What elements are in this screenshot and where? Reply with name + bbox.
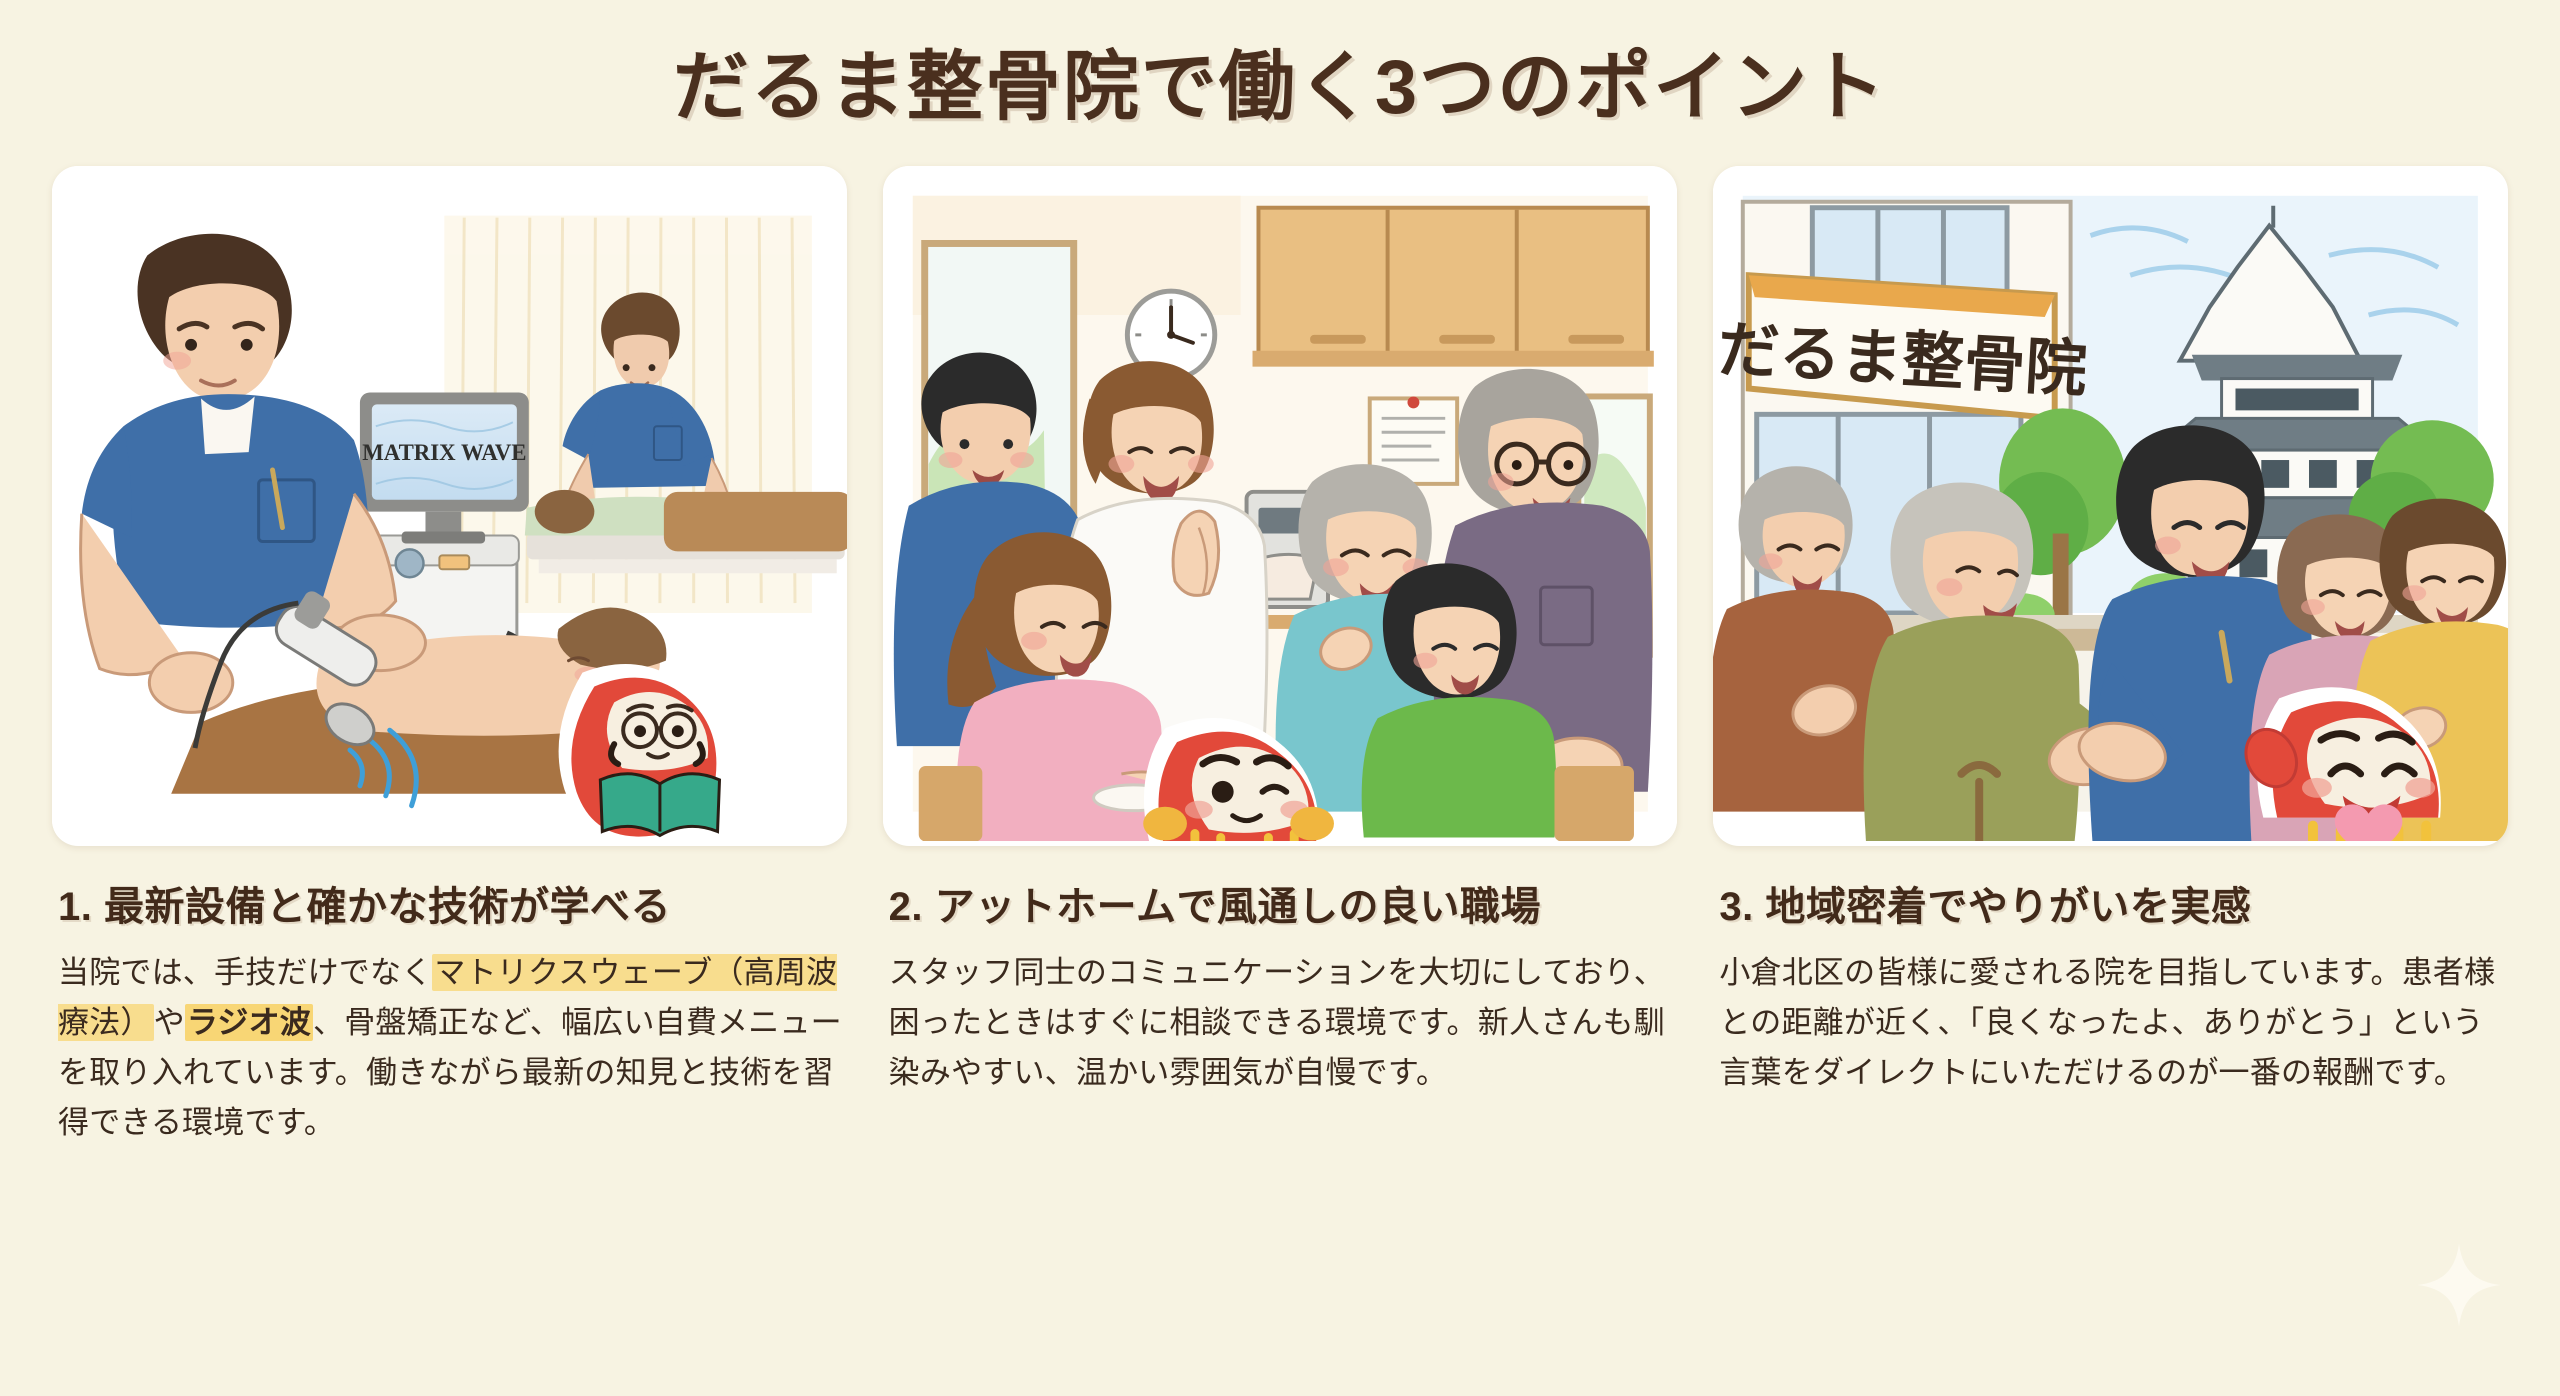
- body-segment: や: [154, 1005, 185, 1040]
- page-title: だるま整骨院で働く3つのポイント: [0, 0, 2560, 130]
- card-heading: 3. 地域密着でやりがいを実感: [1719, 874, 2508, 932]
- staff-room-illustration: [883, 166, 1678, 841]
- card-heading: 1. 最新設備と確かな技術が学べる: [58, 874, 847, 932]
- body-segment: スタッフ同士のコミュニケーションを大切にしており、困ったときはすぐに相談できる環…: [889, 955, 1665, 1090]
- card-body-3: 小倉北区の皆様に愛される院を目指しています。患者様との距離が近く、「良くなったよ…: [1719, 948, 2508, 1099]
- point-card-2: 2. アットホームで風通しの良い職場 スタッフ同士のコミュニケーションを大切にし…: [883, 166, 1678, 1099]
- body-segment-highlight-strong: ラジオ波: [185, 1004, 313, 1041]
- body-segment: 当院では、手技だけでなく: [58, 955, 432, 990]
- points-card-row: MATRIX WAVE: [0, 130, 2560, 1149]
- illustration-frame-3: だるま整骨院: [1713, 166, 2508, 846]
- cabinets: [1252, 207, 1653, 366]
- svg-text:MATRIX WAVE: MATRIX WAVE: [362, 440, 526, 465]
- point-card-1: MATRIX WAVE: [52, 166, 847, 1149]
- treatment-room-illustration: MATRIX WAVE: [52, 166, 847, 841]
- sparkle-icon: [2416, 1242, 2502, 1328]
- background-bed: [525, 489, 847, 572]
- body-segment: 小倉北区の皆様に愛される院を目指しています。患者様との距離が近く、「良くなったよ…: [1719, 955, 2495, 1090]
- card-heading: 2. アットホームで風通しの良い職場: [889, 874, 1678, 932]
- point-card-3: だるま整骨院: [1713, 166, 2508, 1099]
- illustration-frame-2: [883, 166, 1678, 846]
- storefront-illustration: だるま整骨院: [1713, 166, 2508, 841]
- card-body-2: スタッフ同士のコミュニケーションを大切にしており、困ったときはすぐに相談できる環…: [889, 948, 1678, 1099]
- illustration-frame-1: MATRIX WAVE: [52, 166, 847, 846]
- card-body-1: 当院では、手技だけでなくマトリクスウェーブ（高周波療法）やラジオ波、骨盤矯正など…: [58, 948, 847, 1149]
